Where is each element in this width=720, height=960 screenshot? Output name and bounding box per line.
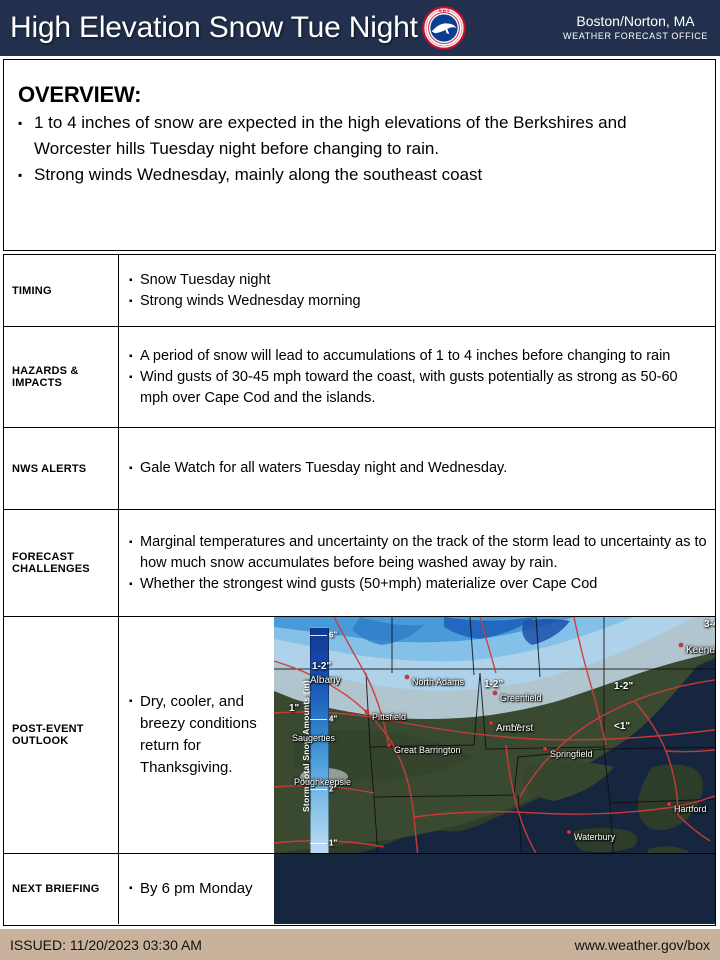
snow-amount-label: 1-2" <box>484 679 503 690</box>
list-item: ▪ Gale Watch for all waters Tuesday nigh… <box>129 458 707 479</box>
list-item: ▪ Snow Tuesday night <box>129 270 707 291</box>
row-label-post-event-outlook: POST-EVENT OUTLOOK <box>4 617 119 853</box>
page-header: High Elevation Snow Tue Night N W S Bost… <box>0 0 720 56</box>
list-item: ▪ Dry, cooler, and breezy conditions ret… <box>129 691 266 779</box>
list-item-text: Wind gusts of 30-45 mph toward the coast… <box>140 367 707 409</box>
snow-amount-label: 1-2" <box>312 661 331 672</box>
city-marker-dot <box>365 710 369 714</box>
row-label-nws-alerts: NWS ALERTS <box>4 428 119 509</box>
list-item: ▪ A period of snow will lead to accumula… <box>129 346 707 367</box>
colorbar-tick-1: 1" <box>329 839 337 848</box>
list-item-text: Snow Tuesday night <box>140 270 707 291</box>
bullet-icon: ▪ <box>129 532 140 574</box>
colorbar-title: Storm Total Snow Amounts (in) <box>301 636 311 853</box>
briefing-table: TIMING ▪ Snow Tuesday night ▪ Strong win… <box>3 254 716 926</box>
svg-text:N W S: N W S <box>439 9 449 13</box>
row-label-forecast-challenges: FORECAST CHALLENGES <box>4 510 119 616</box>
snow-amount-label: <1" <box>504 723 520 734</box>
bullet-icon: ▪ <box>129 367 140 409</box>
row-body-forecast-challenges: ▪ Marginal temperatures and uncertainty … <box>119 510 715 616</box>
bullet-icon: ▪ <box>129 346 140 367</box>
row-label-next-briefing: NEXT BRIEFING <box>4 854 119 924</box>
table-row-timing: TIMING ▪ Snow Tuesday night ▪ Strong win… <box>4 255 715 327</box>
page-footer: ISSUED: 11/20/2023 03:30 AM www.weather.… <box>0 929 720 960</box>
overview-panel: OVERVIEW: ▪ 1 to 4 inches of snow are ex… <box>3 59 716 251</box>
snow-amount-label: 1" <box>289 703 299 714</box>
city-marker-dot <box>405 675 409 679</box>
colorbar-tick-2: 2" <box>329 785 337 794</box>
list-item-text: Dry, cooler, and breezy conditions retur… <box>140 691 266 779</box>
bullet-icon: ▪ <box>129 270 140 291</box>
issued-timestamp: ISSUED: 11/20/2023 03:30 AM <box>0 937 202 953</box>
map-graphic <box>274 617 715 853</box>
bullet-icon: ▪ <box>18 110 34 162</box>
bullet-icon: ▪ <box>129 878 140 900</box>
list-item-text: Marginal temperatures and uncertainty on… <box>140 532 707 574</box>
overview-bullet-text: Strong winds Wednesday, mainly along the… <box>34 162 703 188</box>
city-marker-dot <box>493 691 497 695</box>
list-item-text: Gale Watch for all waters Tuesday night … <box>140 458 707 479</box>
row-body-nws-alerts: ▪ Gale Watch for all waters Tuesday nigh… <box>119 428 715 509</box>
city-marker-dot <box>489 721 493 725</box>
city-marker-dot <box>567 830 571 834</box>
snow-amount-label: 1-2" <box>614 681 633 692</box>
list-item: ▪ Whether the strongest wind gusts (50+m… <box>129 574 707 595</box>
list-item: ▪ Wind gusts of 30-45 mph toward the coa… <box>129 367 707 409</box>
row-label-timing: TIMING <box>4 255 119 326</box>
bullet-icon: ▪ <box>129 574 140 595</box>
overview-bullet: ▪ Strong winds Wednesday, mainly along t… <box>4 162 715 188</box>
list-item: ▪ Strong winds Wednesday morning <box>129 291 707 312</box>
nws-logo-icon: N W S <box>422 6 466 50</box>
row-body-post-event-outlook: ▪ Dry, cooler, and breezy conditions ret… <box>119 617 274 853</box>
table-row-nws-alerts: NWS ALERTS ▪ Gale Watch for all waters T… <box>4 428 715 510</box>
table-row-forecast-challenges: FORECAST CHALLENGES ▪ Marginal temperatu… <box>4 510 715 617</box>
table-row-next-briefing: NEXT BRIEFING ▪ By 6 pm Monday <box>4 854 715 924</box>
overview-heading: OVERVIEW: <box>4 60 715 110</box>
table-row-post-event-outlook: POST-EVENT OUTLOOK ▪ Dry, cooler, and br… <box>4 617 715 854</box>
office-subtitle: WEATHER FORECAST OFFICE <box>563 30 708 43</box>
office-name: Boston/Norton, MA <box>563 13 708 30</box>
snow-colorbar: Storm Total Snow Amounts (in) 0" 1" 2" 4… <box>288 621 334 853</box>
list-item: ▪ Marginal temperatures and uncertainty … <box>129 532 707 574</box>
snow-amount-label: 3-4" <box>704 619 715 630</box>
page-title: High Elevation Snow Tue Night <box>0 11 418 45</box>
list-item-text: By 6 pm Monday <box>140 878 266 900</box>
overview-bullet: ▪ 1 to 4 inches of snow are expected in … <box>4 110 715 162</box>
bullet-icon: ▪ <box>18 162 34 188</box>
snow-map-container[interactable]: Storm Total Snow Amounts (in) 0" 1" 2" 4… <box>274 617 715 853</box>
snow-amount-label: <1" <box>614 721 630 732</box>
list-item-text: Strong winds Wednesday morning <box>140 291 707 312</box>
row-label-hazards: HAZARDS & IMPACTS <box>4 327 119 427</box>
list-item: ▪ By 6 pm Monday <box>129 878 266 900</box>
colorbar-tick-6: 6" <box>329 631 337 640</box>
website-url[interactable]: www.weather.gov/box <box>575 937 720 953</box>
bullet-icon: ▪ <box>129 291 140 312</box>
colorbar-tick-4: 4" <box>329 715 337 724</box>
forecast-office-block: Boston/Norton, MA WEATHER FORECAST OFFIC… <box>563 13 720 43</box>
table-row-hazards: HAZARDS & IMPACTS ▪ A period of snow wil… <box>4 327 715 428</box>
map-continuation <box>274 854 715 924</box>
city-marker-dot <box>667 802 671 806</box>
row-body-timing: ▪ Snow Tuesday night ▪ Strong winds Wedn… <box>119 255 715 326</box>
city-marker-dot <box>543 747 547 751</box>
list-item-text: A period of snow will lead to accumulati… <box>140 346 707 367</box>
overview-bullet-text: 1 to 4 inches of snow are expected in th… <box>34 110 703 162</box>
city-marker-dot <box>387 743 391 747</box>
bullet-icon: ▪ <box>129 458 140 479</box>
list-item-text: Whether the strongest wind gusts (50+mph… <box>140 574 707 595</box>
row-body-next-briefing: ▪ By 6 pm Monday <box>119 854 274 924</box>
bullet-icon: ▪ <box>129 691 140 779</box>
row-body-hazards: ▪ A period of snow will lead to accumula… <box>119 327 715 427</box>
city-marker-dot <box>679 643 683 647</box>
snow-forecast-map[interactable]: Storm Total Snow Amounts (in) 0" 1" 2" 4… <box>274 617 715 853</box>
